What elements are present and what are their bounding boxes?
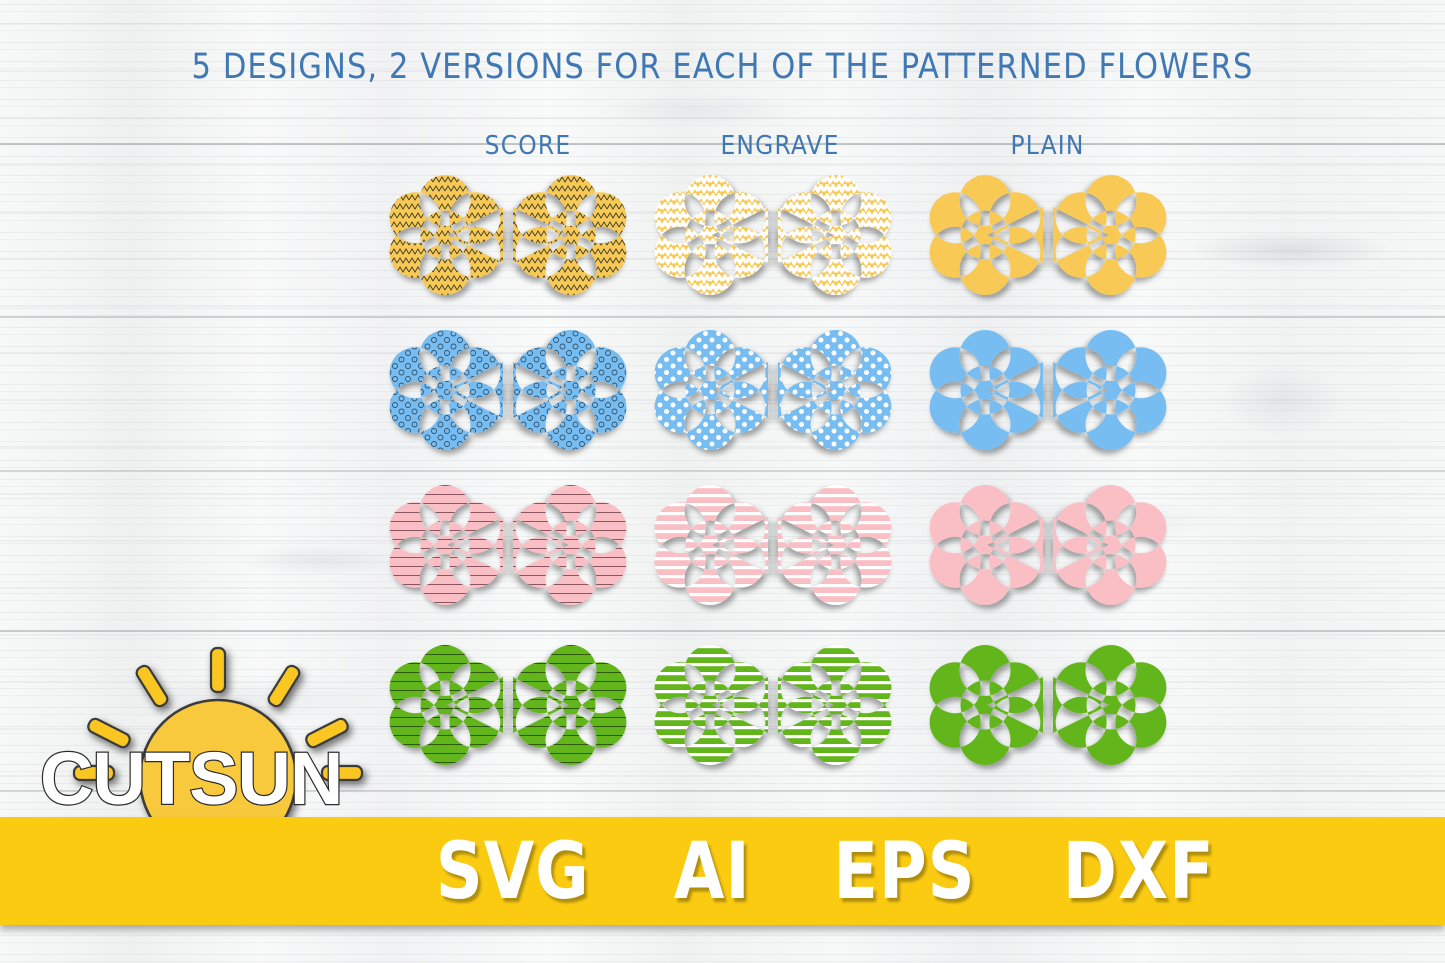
format-eps: EPS [834, 827, 976, 917]
format-svg: SVG [436, 827, 590, 917]
logo-text: CUTSUN [40, 737, 342, 820]
column-header-plain: PLAIN [940, 131, 1155, 161]
column-header-engrave: ENGRAVE [655, 131, 905, 161]
format-ai: AI [674, 827, 751, 917]
page-title: 5 DESIGNS, 2 VERSIONS FOR EACH OF THE PA… [22, 47, 1424, 87]
column-header-score: SCORE [418, 131, 638, 161]
format-dxf: DXF [1062, 827, 1214, 917]
file-format-list: SVG AI EPS DXF [430, 822, 1220, 922]
